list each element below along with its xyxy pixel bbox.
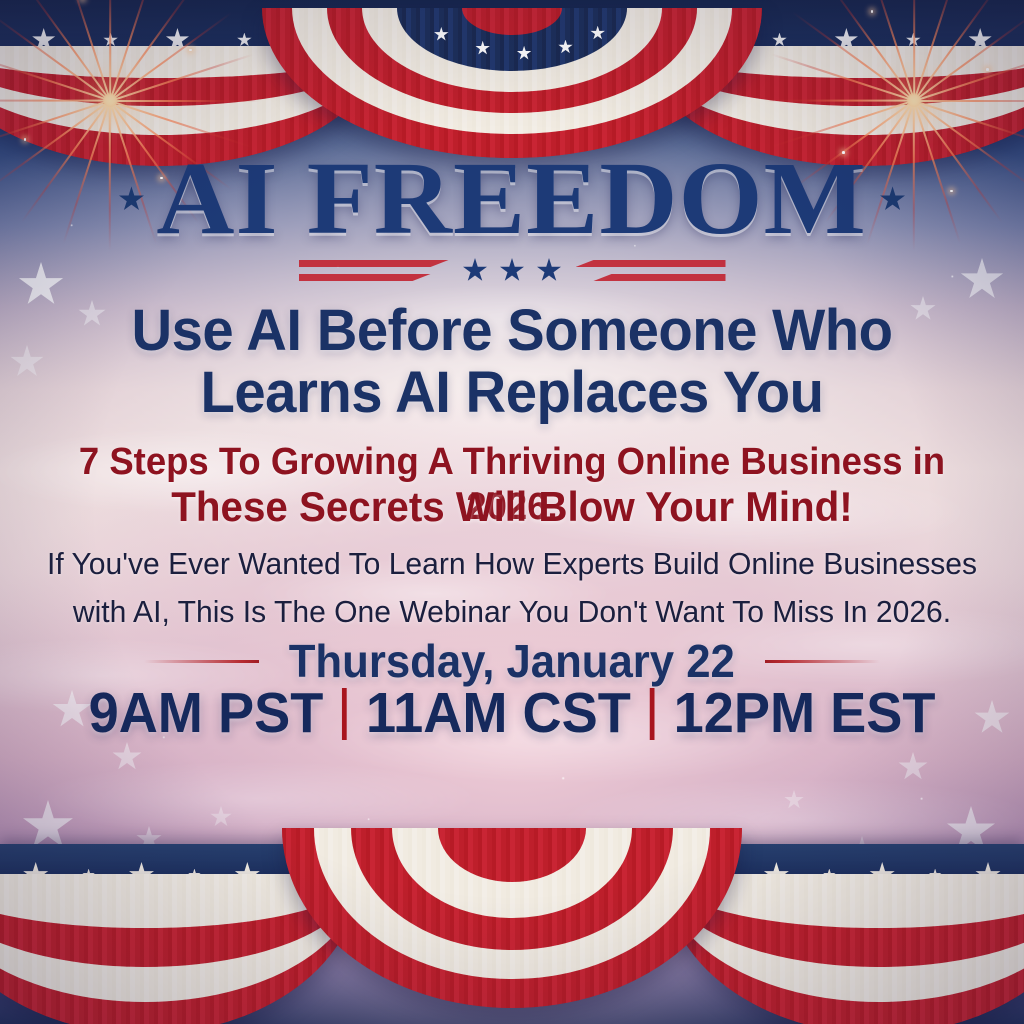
promo-poster: AI FREEDOM Use AI Before Someone Who Lea… — [0, 0, 1024, 1024]
vignette-overlay — [0, 0, 1024, 1024]
